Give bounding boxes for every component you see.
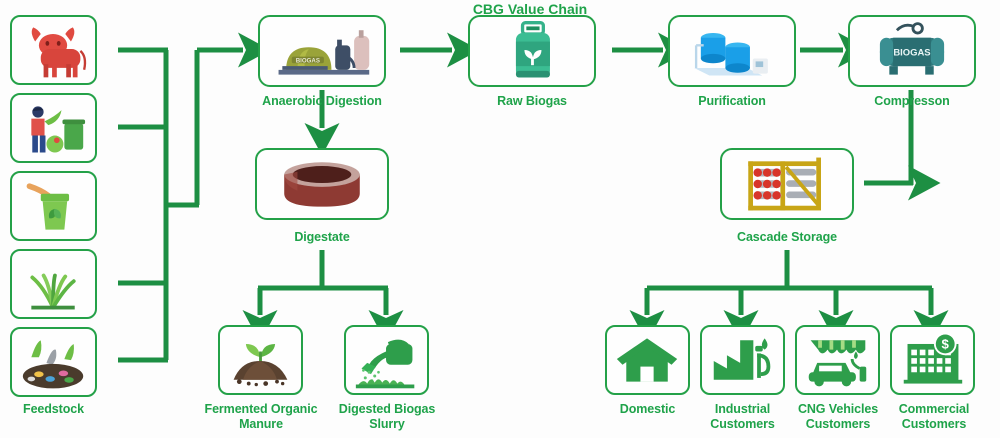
customer-label-commercial: Commercial Customers	[884, 402, 984, 432]
customer-label-domestic: Domestic	[600, 402, 695, 417]
digestate-output-label-manure: Fermented Organic Manure	[190, 402, 332, 432]
process-node-purification[interactable]	[668, 15, 796, 87]
person-bin-icon	[12, 95, 95, 161]
digestate-label: Digestate	[262, 230, 382, 245]
digestate-output-label-slurry: Digested Biogas Slurry	[322, 402, 452, 432]
cbg-value-chain-diagram: CBG Value Chain	[0, 0, 1000, 438]
tank-label: BIOGAS	[893, 48, 930, 59]
customer-node-industrial[interactable]	[700, 325, 785, 395]
feedstock-item-food-waste[interactable]	[10, 93, 97, 163]
process-node-anaerobic-digestion[interactable]: BIOGAS	[258, 15, 386, 87]
customer-label-cng-vehicles: CNG Vehicles Customers	[786, 402, 890, 432]
digestate-output-digested-biogas-slurry[interactable]	[344, 325, 429, 395]
process-label-purification: Purification	[668, 94, 796, 109]
soil-sprout-icon	[220, 327, 301, 393]
waste-pile-icon	[12, 329, 95, 395]
process-label-anaerobic-digestion: Anaerobic Digestion	[252, 94, 392, 109]
feedstock-item-green-waste[interactable]	[10, 171, 97, 241]
cylinder-cascade-icon	[722, 150, 852, 218]
biogas-plant-icon: BIOGAS	[260, 17, 384, 85]
digestate-output-fermented-organic-manure[interactable]	[218, 325, 303, 395]
customer-label-industrial: Industrial Customers	[695, 402, 790, 432]
storage-label-cascade-storage: Cascade Storage	[712, 230, 862, 245]
storage-node-cascade-storage[interactable]	[720, 148, 854, 220]
digestate-tank-icon	[257, 150, 387, 218]
purification-tanks-icon	[670, 17, 794, 85]
digestate-node[interactable]	[255, 148, 389, 220]
customer-node-commercial[interactable]: $	[890, 325, 975, 395]
watering-can-icon	[346, 327, 427, 393]
feedstock-group-label: Feedstock	[2, 402, 105, 417]
house-icon	[607, 327, 688, 393]
feedstock-item-cattle[interactable]	[10, 15, 97, 85]
cng-station-car-icon	[797, 327, 878, 393]
customer-node-cng-vehicles[interactable]	[795, 325, 880, 395]
feedstock-item-napier-grass[interactable]	[10, 249, 97, 319]
grass-icon	[12, 251, 95, 317]
process-node-compresson[interactable]: BIOGAS	[848, 15, 976, 87]
factory-icon	[702, 327, 783, 393]
leaf-bin-icon	[12, 173, 95, 239]
process-node-raw-biogas[interactable]	[468, 15, 596, 87]
process-label-compresson: Compresson	[848, 94, 976, 109]
process-label-raw-biogas: Raw Biogas	[468, 94, 596, 109]
biogas-tank-icon: BIOGAS	[850, 17, 974, 85]
gas-cylinder-icon	[470, 17, 594, 85]
customer-node-domestic[interactable]	[605, 325, 690, 395]
commercial-building-icon: $	[892, 327, 973, 393]
feedstock-item-municipal-waste[interactable]	[10, 327, 97, 397]
cow-icon	[12, 17, 95, 83]
svg-text:$: $	[942, 337, 950, 352]
svg-text:BIOGAS: BIOGAS	[296, 57, 320, 64]
